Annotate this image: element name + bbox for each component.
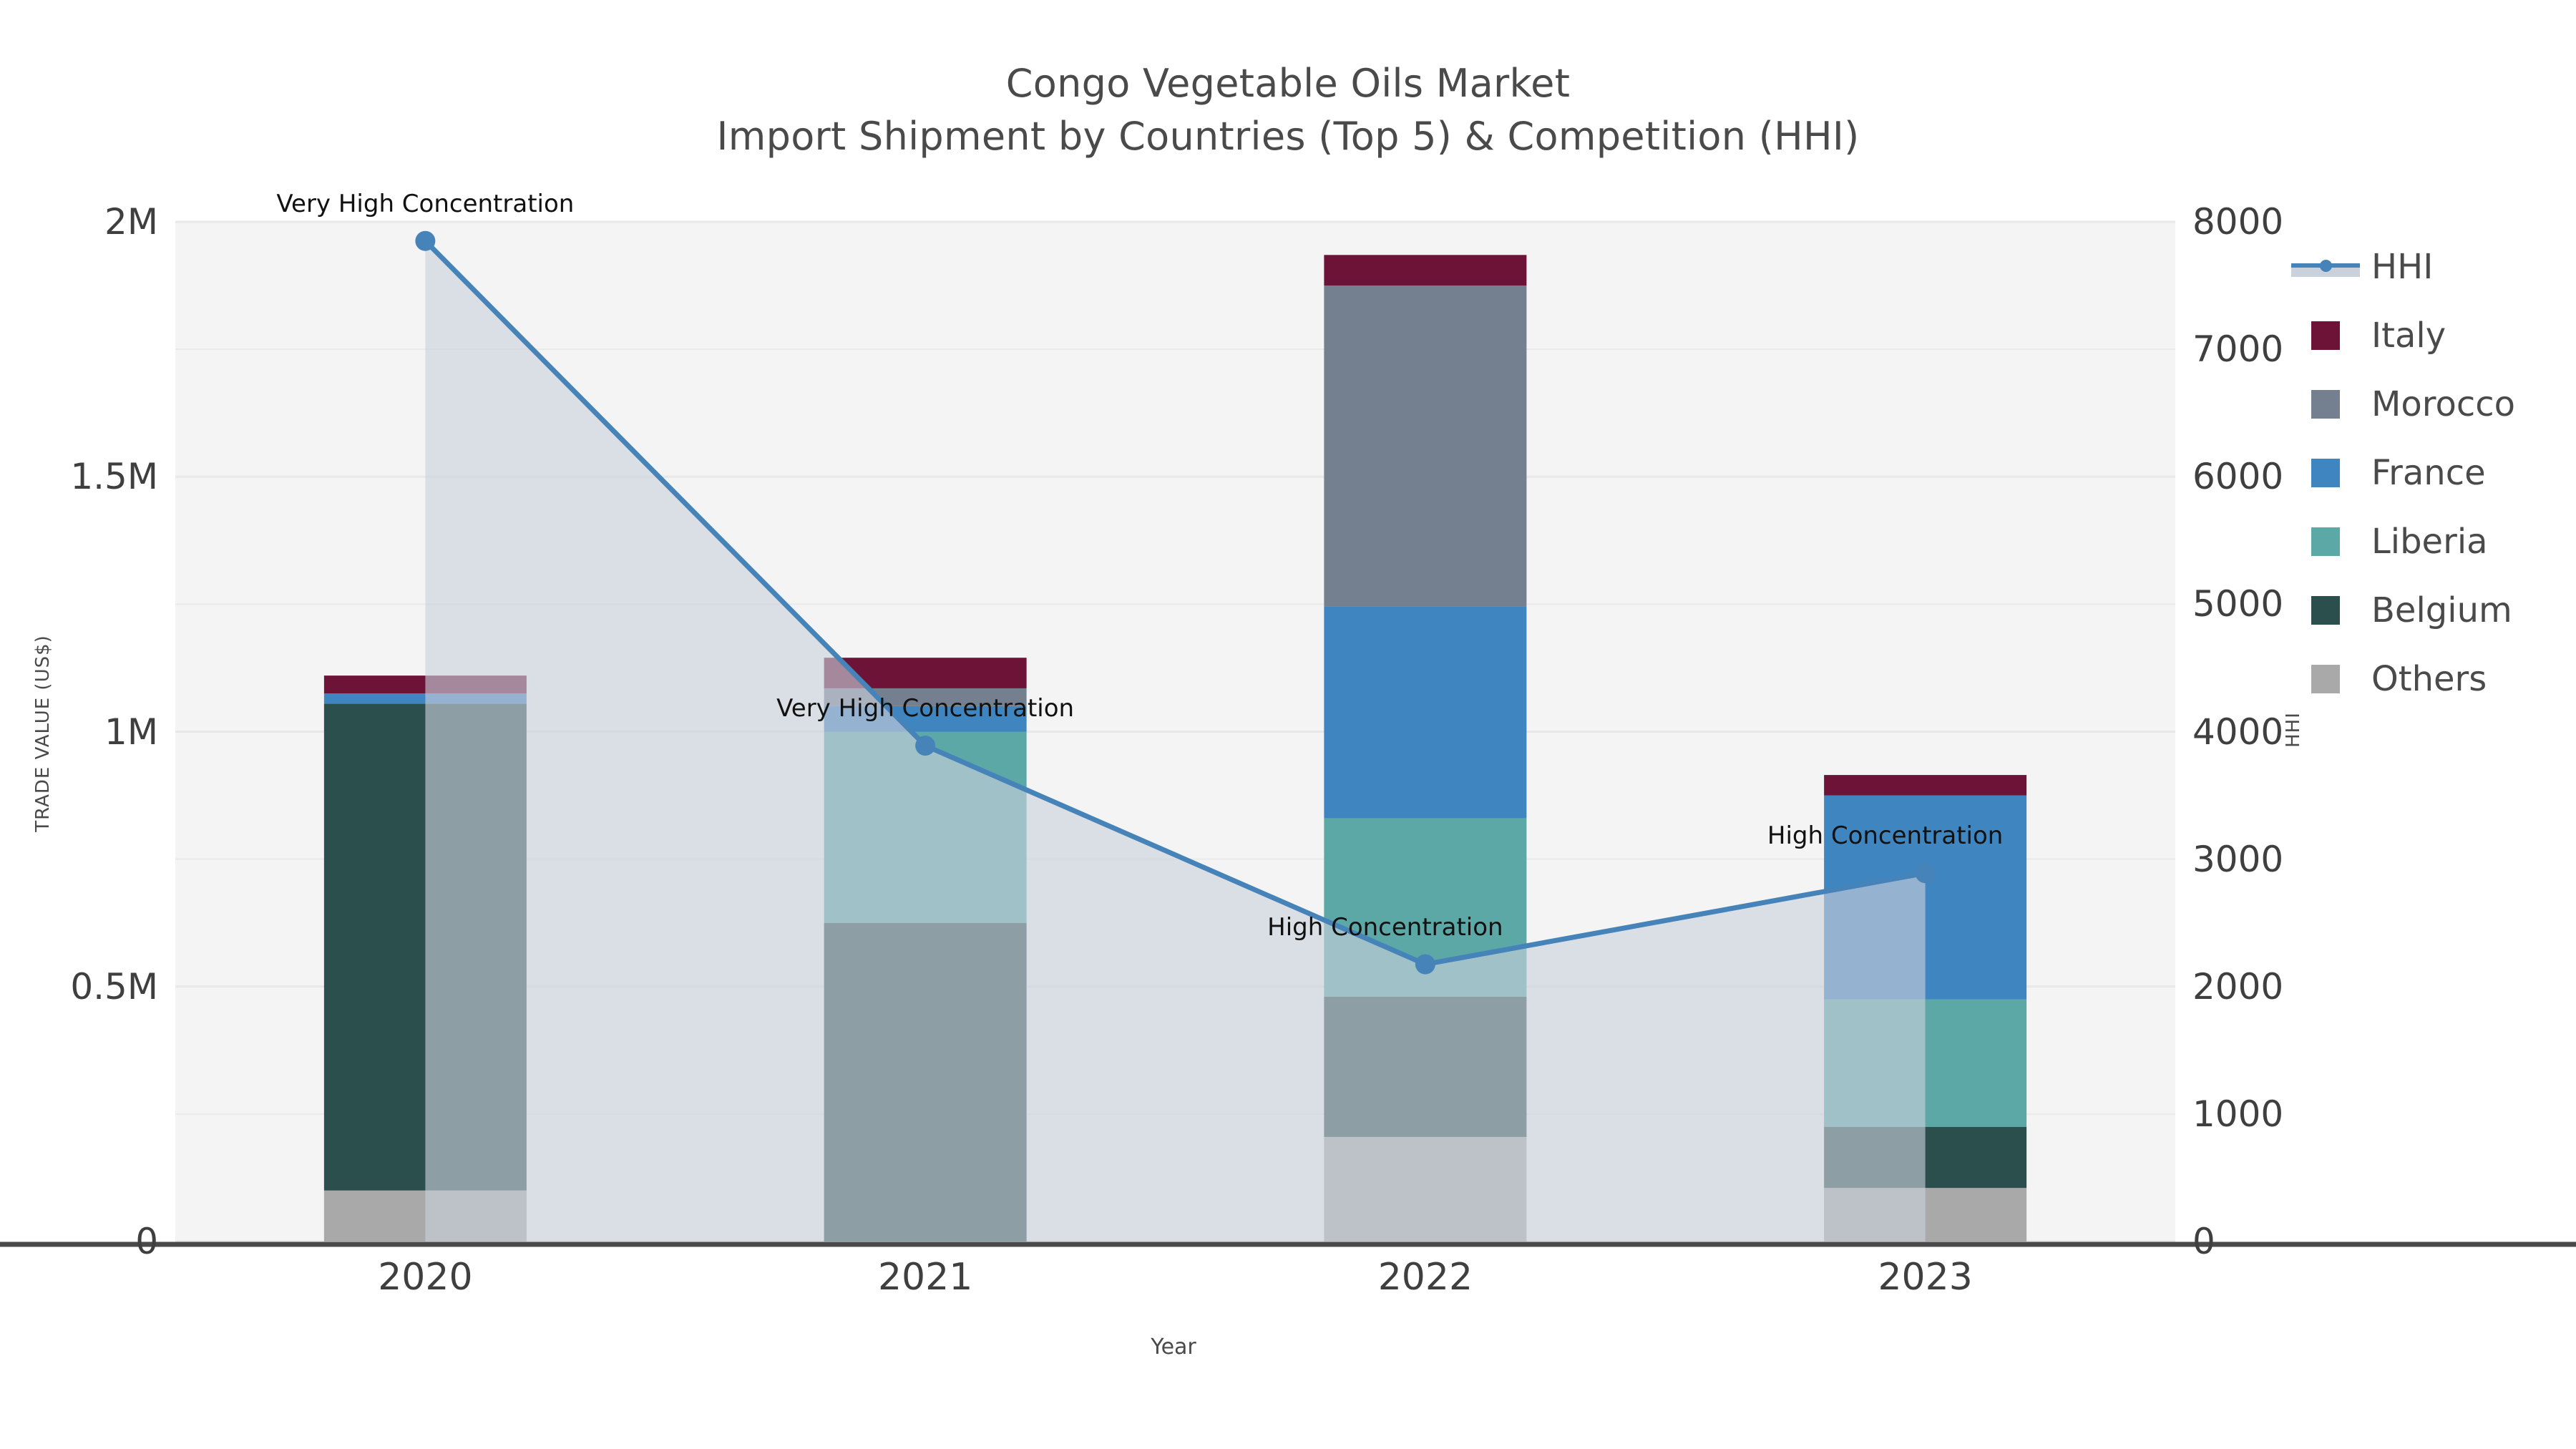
legend-color-swatch xyxy=(2311,459,2340,487)
y-axis-left-tick: 2M xyxy=(1,201,158,243)
legend-label: HHI xyxy=(2371,247,2433,287)
bar-segment xyxy=(1324,286,1526,607)
y-axis-left-tick: 1.5M xyxy=(1,456,158,497)
concentration-annotation: High Concentration xyxy=(1267,913,1503,942)
y-axis-right-tick: 4000 xyxy=(2192,711,2283,753)
hhi-data-point xyxy=(1916,863,1936,883)
legend-color-swatch xyxy=(2311,321,2340,350)
concentration-annotation: Very High Concentration xyxy=(776,694,1074,723)
hhi-data-point xyxy=(915,736,935,756)
legend-marker-dot xyxy=(2320,260,2332,272)
legend-color-swatch xyxy=(2311,527,2340,556)
legend-label: Liberia xyxy=(2371,522,2488,562)
bar-segment xyxy=(1324,255,1526,286)
legend-item-others[interactable]: Others xyxy=(2290,645,2576,713)
bar-segment xyxy=(1824,775,2026,796)
x-axis-tick: 2021 xyxy=(878,1256,972,1299)
legend-label: Morocco xyxy=(2371,384,2515,424)
chart-legend: HHIItalyMoroccoFranceLiberiaBelgiumOther… xyxy=(2290,233,2576,713)
y-axis-right-tick: 7000 xyxy=(2192,328,2283,370)
y-axis-right-tick: 1000 xyxy=(2192,1093,2283,1135)
legend-item-france[interactable]: France xyxy=(2290,439,2576,507)
hhi-data-point xyxy=(415,231,435,251)
x-axis-tick: 2023 xyxy=(1878,1256,1972,1299)
y-axis-right-tick: 5000 xyxy=(2192,583,2283,625)
legend-label: France xyxy=(2371,453,2486,493)
legend-swatch-box xyxy=(2290,321,2361,350)
concentration-annotation: High Concentration xyxy=(1767,821,2003,850)
legend-label: Italy xyxy=(2371,316,2446,356)
legend-swatch-box xyxy=(2290,390,2361,419)
y-axis-left-tick: 1M xyxy=(1,711,158,753)
y-axis-right-tick: 2000 xyxy=(2192,966,2283,1008)
plot-area xyxy=(175,222,2175,1241)
legend-item-italy[interactable]: Italy xyxy=(2290,301,2576,370)
legend-swatch-box xyxy=(2290,527,2361,556)
hhi-data-point xyxy=(1415,955,1435,975)
legend-item-morocco[interactable]: Morocco xyxy=(2290,370,2576,439)
y-axis-right-tick: 8000 xyxy=(2192,201,2283,243)
legend-item-liberia[interactable]: Liberia xyxy=(2290,507,2576,576)
y-axis-right-tick: 6000 xyxy=(2192,456,2283,497)
concentration-annotation: Very High Concentration xyxy=(276,190,574,218)
y-axis-left-title: TRADE VALUE (US$) xyxy=(32,635,54,832)
legend-color-swatch xyxy=(2311,390,2340,419)
y-axis-right: 010002000300040005000600070008000 xyxy=(2188,0,2331,1449)
legend-item-hhi[interactable]: HHI xyxy=(2290,233,2576,301)
legend-item-belgium[interactable]: Belgium xyxy=(2290,576,2576,645)
x-axis-tick: 2022 xyxy=(1378,1256,1473,1299)
legend-label: Others xyxy=(2371,659,2487,699)
legend-label: Belgium xyxy=(2371,590,2512,630)
legend-color-swatch xyxy=(2311,596,2340,625)
y-axis-left-tick: 0.5M xyxy=(1,966,158,1008)
x-axis-ticks: 2020202120222023 xyxy=(0,1256,2576,1313)
legend-swatch-box xyxy=(2290,665,2361,693)
legend-line-sample xyxy=(2290,254,2361,280)
hhi-area-fill xyxy=(425,241,1925,1241)
bar-segment xyxy=(1324,607,1526,819)
legend-swatch-box xyxy=(2290,596,2361,625)
plot-canvas xyxy=(175,222,2175,1241)
legend-color-swatch xyxy=(2311,665,2340,693)
x-axis-tick: 2020 xyxy=(378,1256,472,1299)
legend-swatch-box xyxy=(2290,459,2361,487)
y-axis-right-tick: 3000 xyxy=(2192,839,2283,880)
y-axis-right-title: HHI xyxy=(2283,712,2304,748)
y-axis-left: 00.5M1M1.5M2M xyxy=(0,0,168,1449)
x-axis-title: Year xyxy=(1151,1335,1196,1360)
